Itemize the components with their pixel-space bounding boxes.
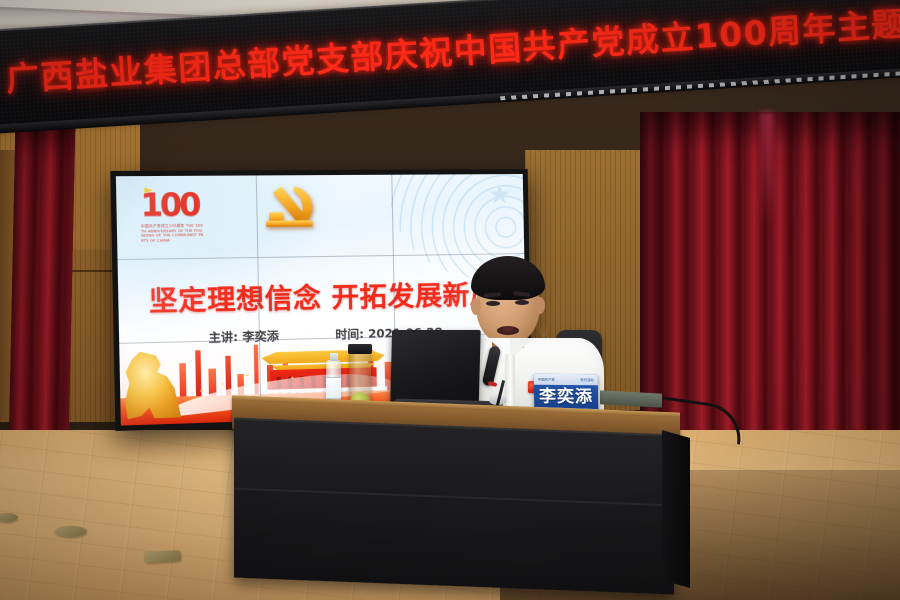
mouth (497, 326, 519, 335)
anniversary-caption: 中国共产党成立100周年 THE 100TH ANNIVERSARY OF TH… (141, 224, 204, 244)
star-icon: ★ (488, 182, 512, 208)
floor-outlet-cover (55, 526, 87, 537)
floor-outlet-cover (145, 550, 182, 563)
desk-side-panel (662, 430, 690, 588)
nose (539, 323, 548, 337)
anniversary-number: 100 (140, 190, 208, 222)
hair (471, 256, 545, 300)
podium-desk (232, 404, 680, 600)
conference-hall-photo: 广西盐业集团总部党支部庆祝中国共产党成立100周年主题党日活动 ★ 100 中国… (0, 0, 900, 600)
nameplate-header-right: 党日活动 (580, 377, 594, 382)
bottle-label (326, 377, 341, 399)
stage-curtain-left (9, 122, 76, 452)
anniversary-100-emblem: 100 中国共产党成立100周年 THE 100TH ANNIVERSARY O… (140, 190, 208, 241)
hammer-and-sickle-icon (259, 181, 319, 231)
ear-left (471, 298, 481, 315)
curtain-highlight (760, 112, 774, 227)
eye-right (515, 300, 529, 305)
ear-right (535, 297, 545, 314)
eye-left (486, 301, 500, 306)
nameplate-header-left: 中国共产党 (538, 377, 555, 382)
nameplate-header: 中国共产党 党日活动 (534, 374, 598, 386)
desk-front-panel (234, 418, 674, 595)
tumbler-lid (348, 344, 372, 354)
